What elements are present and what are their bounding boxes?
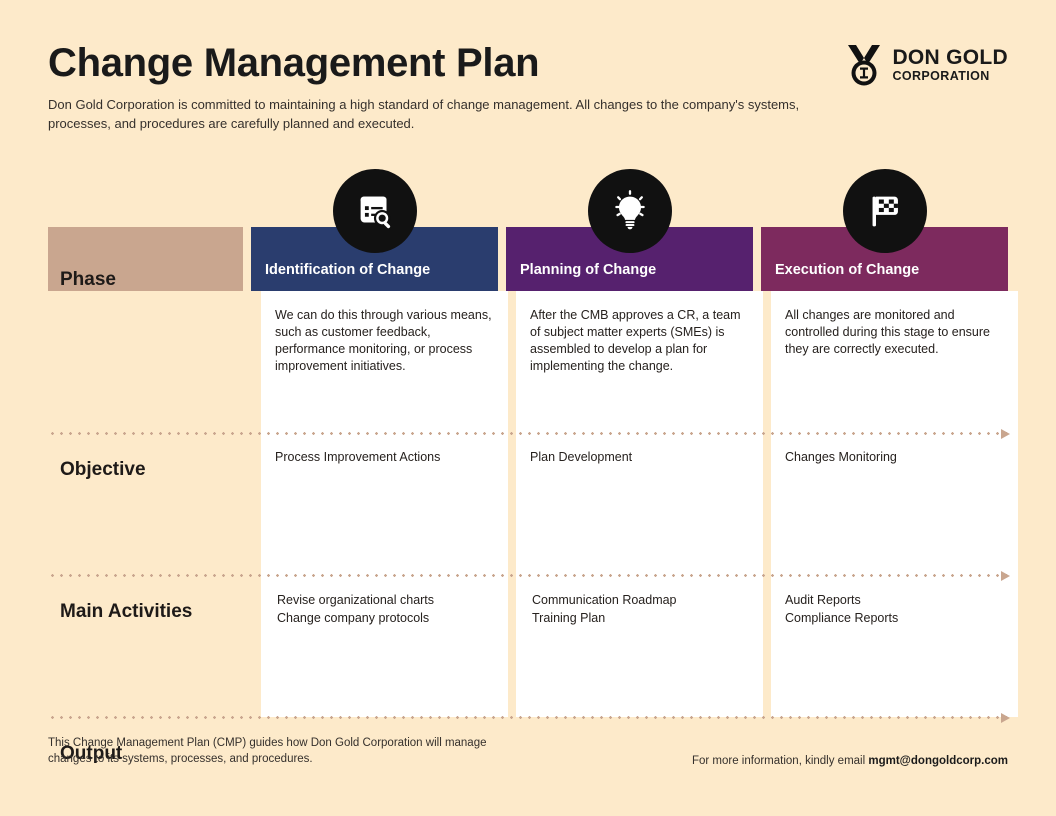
cell-objective-planning: After the CMB approves a CR, a team of s… xyxy=(516,291,763,433)
cell-output-execution: Audit Reports Compliance Reports xyxy=(771,575,1018,717)
logo-subname: CORPORATION xyxy=(892,70,1008,83)
cell-text: Communication Roadmap Training Plan xyxy=(530,591,747,627)
row-divider-2 xyxy=(48,574,1008,577)
cell-output-planning: Communication Roadmap Training Plan xyxy=(516,575,763,717)
footer-note: This Change Management Plan (CMP) guides… xyxy=(48,735,487,767)
column-body-identification: We can do this through various means, su… xyxy=(261,291,508,717)
row-label-column: Objective Main Activities Output xyxy=(48,291,253,717)
company-logo: DON GOLD CORPORATION xyxy=(845,44,1008,86)
cell-text: Plan Development xyxy=(530,449,747,466)
row-divider-3 xyxy=(48,716,1008,719)
column-header-planning[interactable]: Planning of Change xyxy=(506,227,753,291)
cell-activities-execution: Changes Monitoring xyxy=(771,433,1018,575)
column-gap xyxy=(508,291,516,717)
column-body-planning: After the CMB approves a CR, a team of s… xyxy=(516,291,763,717)
row-divider-1 xyxy=(48,432,1008,435)
cell-text: Changes Monitoring xyxy=(785,449,1002,466)
column-gap xyxy=(498,227,506,291)
cell-objective-identification: We can do this through various means, su… xyxy=(261,291,508,433)
phase-header-cell: Phase xyxy=(48,227,243,291)
cell-text: After the CMB approves a CR, a team of s… xyxy=(530,307,747,376)
logo-wordmark: DON GOLD CORPORATION xyxy=(892,47,1008,83)
cell-text: Revise organizational charts Change comp… xyxy=(275,591,492,627)
column-title: Planning of Change xyxy=(506,262,656,278)
phase-matrix: Phase Identification of Change xyxy=(48,227,1008,717)
column-gap xyxy=(253,291,261,717)
cell-text: We can do this through various means, su… xyxy=(275,307,492,376)
column-gap xyxy=(243,227,251,291)
cell-text: Audit Reports Compliance Reports xyxy=(785,591,1002,627)
column-gap xyxy=(753,227,761,291)
column-header-identification[interactable]: Identification of Change xyxy=(251,227,498,291)
document-search-icon xyxy=(333,169,417,253)
infographic-page: { "header": { "title": "Change Managemen… xyxy=(0,0,1056,816)
cell-text: Process Improvement Actions xyxy=(275,449,492,466)
footer-contact: For more information, kindly email mgmt@… xyxy=(692,755,1008,767)
footer-contact-prefix: For more information, kindly email xyxy=(692,755,868,767)
column-gap xyxy=(763,291,771,717)
cell-objective-execution: All changes are monitored and controlled… xyxy=(771,291,1018,433)
cell-activities-identification: Process Improvement Actions xyxy=(261,433,508,575)
page-subtitle: Don Gold Corporation is committed to mai… xyxy=(48,96,823,134)
logo-name: DON GOLD xyxy=(892,47,1008,68)
cell-output-identification: Revise organizational charts Change comp… xyxy=(261,575,508,717)
column-title: Execution of Change xyxy=(761,262,919,278)
cell-text: All changes are monitored and controlled… xyxy=(785,307,1002,358)
page-footer: This Change Management Plan (CMP) guides… xyxy=(48,735,1008,767)
column-body-execution: All changes are monitored and controlled… xyxy=(771,291,1018,717)
matrix-header-row: Phase Identification of Change xyxy=(48,227,1008,291)
footer-email[interactable]: mgmt@dongoldcorp.com xyxy=(868,755,1008,767)
matrix-body: Objective Main Activities Output We can … xyxy=(48,291,1008,717)
row-label-activities: Main Activities xyxy=(60,601,192,623)
row-label-objective: Objective xyxy=(60,459,146,481)
cell-activities-planning: Plan Development xyxy=(516,433,763,575)
column-header-execution[interactable]: Execution of Change xyxy=(761,227,1008,291)
lightbulb-icon xyxy=(588,169,672,253)
phase-header-label: Phase xyxy=(48,269,116,291)
column-title: Identification of Change xyxy=(251,262,430,278)
checkered-flag-icon xyxy=(843,169,927,253)
medal-icon xyxy=(845,44,883,86)
